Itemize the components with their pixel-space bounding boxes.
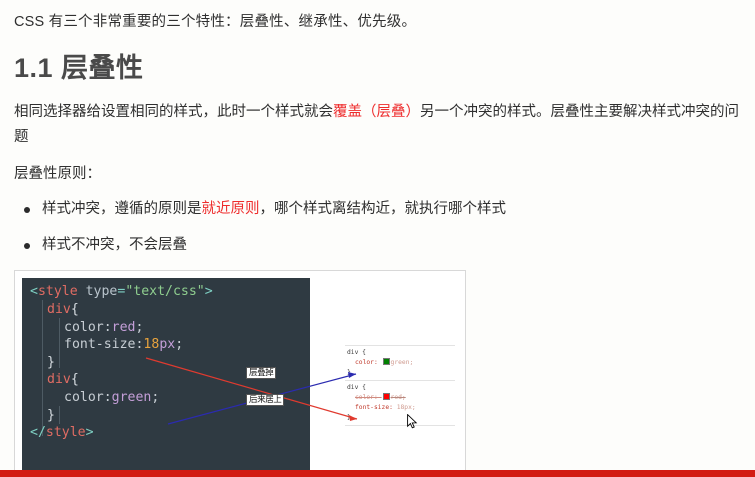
- intro-paragraph: CSS 有三个非常重要的三个特性：层叠性、继承性、优先级。: [14, 12, 741, 34]
- paragraph-cascade-definition: 相同选择器给设置相同的样式，此时一个样式就会覆盖（层叠）另一个冲突的样式。层叠性…: [14, 100, 741, 150]
- page-content: CSS 有三个非常重要的三个特性：层叠性、继承性、优先级。 1.1 层叠性 相同…: [0, 0, 755, 470]
- code-token: >: [86, 425, 94, 440]
- code-token: type: [86, 284, 118, 299]
- devtools-value: red;: [391, 394, 406, 401]
- code-token: }: [47, 408, 55, 423]
- color-swatch-icon[interactable]: [383, 393, 390, 400]
- bottom-accent-bar: [0, 470, 755, 477]
- code-token: >: [205, 284, 213, 299]
- mouse-cursor-icon: [407, 414, 418, 429]
- code-token: :: [104, 320, 112, 335]
- code-token: color: [64, 320, 104, 335]
- code-token: ;: [175, 337, 183, 352]
- devtools-property: color:: [355, 394, 382, 401]
- code-token: red: [112, 320, 136, 335]
- devtools-property: font-size:: [355, 404, 397, 411]
- list-item-text-before: 样式不冲突，不会层叠: [42, 237, 187, 253]
- paragraph-highlight-override: 覆盖（层叠）: [333, 104, 420, 120]
- code-line: }: [30, 407, 302, 425]
- code-token: {: [71, 372, 79, 387]
- list-item: 样式不冲突，不会层叠: [14, 235, 741, 257]
- code-line: </style>: [30, 424, 302, 442]
- annotation-label-latter-wins: 后来居上: [246, 394, 284, 406]
- code-token: [78, 284, 86, 299]
- code-line: font-size:18px;: [30, 336, 302, 354]
- devtools-property: color:: [355, 359, 382, 366]
- paragraph-principles-label: 层叠性原则：: [14, 162, 741, 187]
- code-token: :: [104, 390, 112, 405]
- list-item-text-after: ，哪个样式离结构近，就执行哪个样式: [260, 201, 507, 217]
- principles-list: 样式冲突，遵循的原则是就近原则，哪个样式离结构近，就执行哪个样式 样式不冲突，不…: [14, 199, 741, 257]
- color-swatch-icon[interactable]: [383, 358, 390, 365]
- code-token: {: [71, 302, 79, 317]
- list-item: 样式冲突，遵循的原则是就近原则，哪个样式离结构近，就执行哪个样式: [14, 199, 741, 221]
- devtools-rule-close: }: [347, 413, 455, 423]
- code-token: color: [64, 390, 104, 405]
- code-lines: <style type="text/css">div{color:red;fon…: [30, 283, 302, 441]
- devtools-styles-pane: div {color: green;}div {color: red;font-…: [345, 345, 455, 426]
- code-token: green: [112, 390, 152, 405]
- devtools-declaration[interactable]: color: green;: [347, 358, 455, 368]
- code-token: div: [47, 372, 71, 387]
- devtools-value: 18px;: [397, 404, 416, 411]
- code-token: div: [47, 302, 71, 317]
- devtools-rule-close: }: [347, 368, 455, 378]
- code-token: ;: [135, 320, 143, 335]
- code-token: 18: [143, 337, 159, 352]
- devtools-rule[interactable]: div {color: red;font-size: 18px;}: [345, 380, 455, 426]
- figure-cascade-example: <style type="text/css">div{color:red;fon…: [14, 270, 466, 476]
- code-token: "text/css": [125, 284, 204, 299]
- devtools-rules: div {color: green;}div {color: red;font-…: [345, 345, 455, 426]
- code-line: color:red;: [30, 319, 302, 337]
- page-title: 1.1 层叠性: [14, 52, 741, 84]
- devtools-declaration[interactable]: color: red;: [347, 393, 455, 403]
- devtools-rule[interactable]: div {color: green;}: [345, 345, 455, 380]
- code-token: ;: [151, 390, 159, 405]
- devtools-selector: div {: [347, 383, 455, 393]
- code-token: style: [38, 284, 78, 299]
- code-line: div{: [30, 301, 302, 319]
- code-token: px: [159, 337, 175, 352]
- code-token: </: [30, 425, 46, 440]
- list-item-text-before: 样式冲突，遵循的原则是: [42, 201, 202, 217]
- code-line: <style type="text/css">: [30, 283, 302, 301]
- paragraph-text-before: 相同选择器给设置相同的样式，此时一个样式就会: [14, 104, 333, 120]
- code-token: font-size: [64, 337, 135, 352]
- devtools-selector: div {: [347, 348, 455, 358]
- devtools-value: green;: [391, 359, 414, 366]
- devtools-declaration[interactable]: font-size: 18px;: [347, 403, 455, 413]
- annotation-label-overridden: 层叠掉: [246, 367, 276, 379]
- list-item-highlight: 就近原则: [202, 201, 260, 217]
- code-token: style: [46, 425, 86, 440]
- code-token: }: [47, 355, 55, 370]
- code-token: <: [30, 284, 38, 299]
